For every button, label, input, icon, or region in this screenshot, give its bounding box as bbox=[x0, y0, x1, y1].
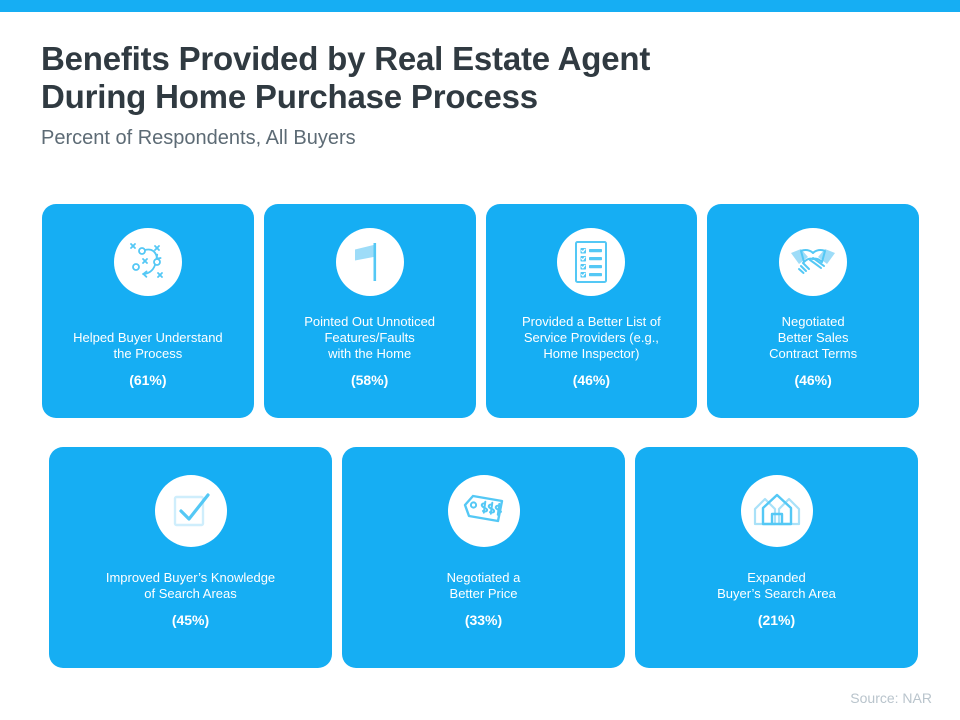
header: Benefits Provided by Real Estate AgentDu… bbox=[41, 40, 921, 151]
benefit-label: Provided a Better List of Service Provid… bbox=[494, 314, 690, 362]
page-title-line-1: Benefits Provided by Real Estate Agent bbox=[41, 40, 650, 77]
page-title-line-2: During Home Purchase Process bbox=[41, 78, 538, 115]
card-text: Negotiated Better Sales Contract Terms (… bbox=[707, 314, 919, 418]
benefit-percentage: (46%) bbox=[715, 372, 911, 388]
source-note: Source: NAR bbox=[850, 690, 932, 706]
flag-icon bbox=[336, 228, 404, 296]
strategy-playbook-icon bbox=[114, 228, 182, 296]
card-row-two: Improved Buyer’s Knowledge of Search Are… bbox=[49, 447, 919, 668]
benefit-label: Expanded Buyer’s Search Area bbox=[643, 570, 910, 602]
benefit-label: Helped Buyer Understand the Process bbox=[50, 330, 246, 362]
benefit-label: Negotiated a Better Price bbox=[350, 570, 617, 602]
benefit-card[interactable]: Negotiated Better Sales Contract Terms (… bbox=[707, 204, 919, 418]
benefit-card[interactable]: Pointed Out Unnoticed Features/Faults wi… bbox=[264, 204, 476, 418]
houses-icon bbox=[741, 475, 813, 547]
price-tag-dollar-icon bbox=[448, 475, 520, 547]
benefit-percentage: (61%) bbox=[50, 372, 246, 388]
checkbox-check-icon bbox=[155, 475, 227, 547]
benefit-card[interactable]: Provided a Better List of Service Provid… bbox=[486, 204, 698, 418]
card-text: Provided a Better List of Service Provid… bbox=[486, 314, 698, 418]
infographic-slide: Benefits Provided by Real Estate AgentDu… bbox=[0, 0, 960, 720]
page-subtitle: Percent of Respondents, All Buyers bbox=[41, 126, 921, 151]
benefit-label: Improved Buyer’s Knowledge of Search Are… bbox=[57, 570, 324, 602]
card-text: Negotiated a Better Price (33%) bbox=[342, 570, 625, 668]
card-text: Improved Buyer’s Knowledge of Search Are… bbox=[49, 570, 332, 668]
benefit-card[interactable]: Helped Buyer Understand the Process (61%… bbox=[42, 204, 254, 418]
page-title: Benefits Provided by Real Estate AgentDu… bbox=[41, 40, 921, 116]
benefit-percentage: (58%) bbox=[272, 372, 468, 388]
benefit-card[interactable]: Expanded Buyer’s Search Area (21%) bbox=[635, 447, 918, 668]
benefit-card[interactable]: Improved Buyer’s Knowledge of Search Are… bbox=[49, 447, 332, 668]
top-accent-bar bbox=[0, 0, 960, 12]
card-text: Helped Buyer Understand the Process (61%… bbox=[42, 330, 254, 418]
benefit-card[interactable]: Negotiated a Better Price (33%) bbox=[342, 447, 625, 668]
card-text: Expanded Buyer’s Search Area (21%) bbox=[635, 570, 918, 668]
handshake-icon bbox=[779, 228, 847, 296]
benefit-percentage: (21%) bbox=[643, 612, 910, 628]
checklist-clipboard-icon bbox=[557, 228, 625, 296]
benefit-percentage: (46%) bbox=[494, 372, 690, 388]
benefit-percentage: (45%) bbox=[57, 612, 324, 628]
benefit-label: Pointed Out Unnoticed Features/Faults wi… bbox=[272, 314, 468, 362]
benefit-percentage: (33%) bbox=[350, 612, 617, 628]
card-text: Pointed Out Unnoticed Features/Faults wi… bbox=[264, 314, 476, 418]
card-row-one: Helped Buyer Understand the Process (61%… bbox=[42, 204, 919, 418]
benefit-label: Negotiated Better Sales Contract Terms bbox=[715, 314, 911, 362]
